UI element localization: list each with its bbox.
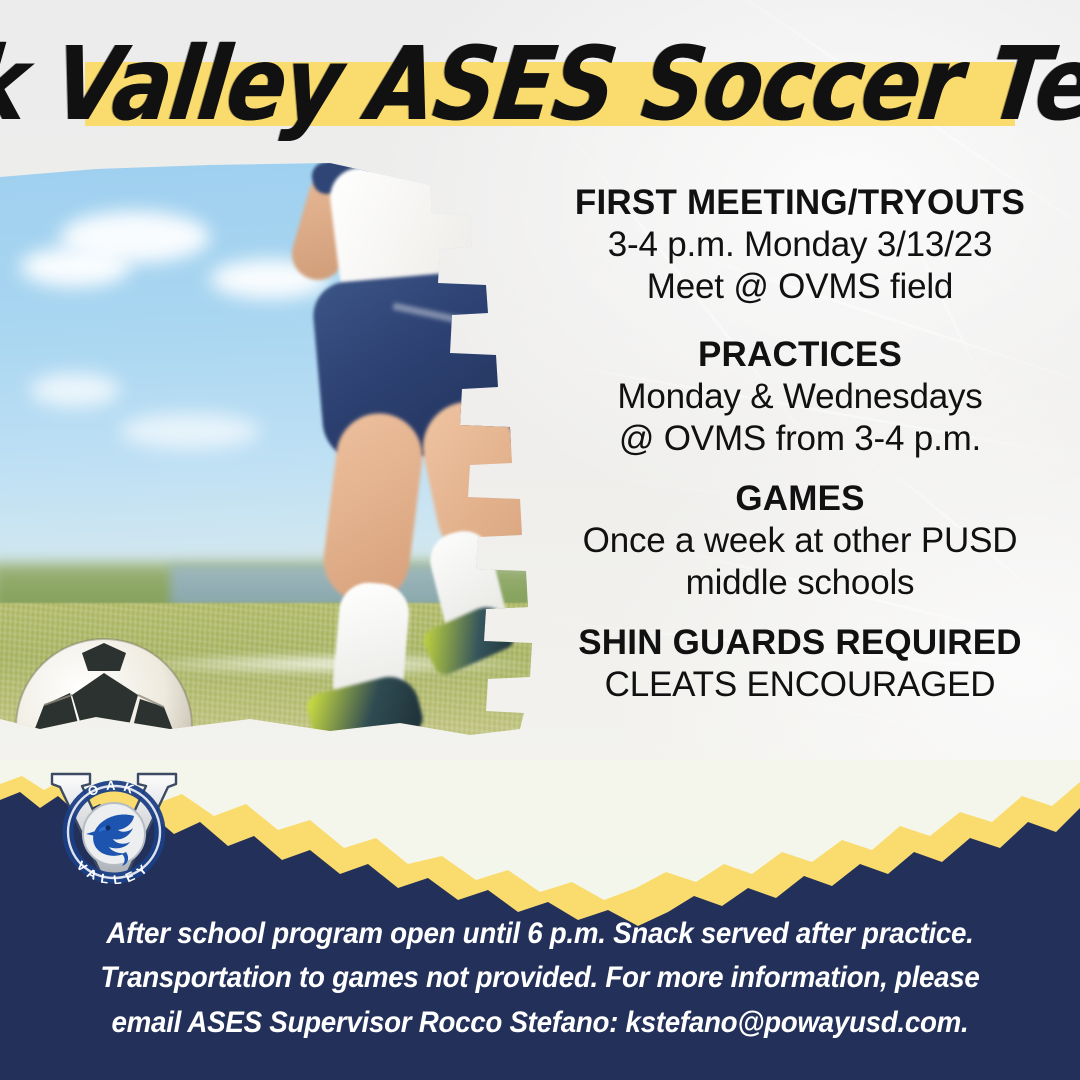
cloud bbox=[30, 373, 120, 407]
practices-line-2: @ OVMS from 3-4 p.m. bbox=[520, 418, 1080, 461]
spacer bbox=[520, 309, 1080, 335]
section-heading-practices: PRACTICES bbox=[520, 335, 1080, 376]
section-heading-shin-guards: SHIN GUARDS REQUIRED bbox=[520, 623, 1080, 664]
tryouts-line-1: 3-4 p.m. Monday 3/13/23 bbox=[520, 224, 1080, 267]
spacer bbox=[520, 461, 1080, 479]
section-heading-tryouts: FIRST MEETING/TRYOUTS bbox=[520, 183, 1080, 224]
cloud bbox=[20, 247, 130, 287]
title-block: Oak Valley ASES Soccer Team bbox=[0, 0, 1080, 170]
page-title: Oak Valley ASES Soccer Team bbox=[0, 0, 1080, 185]
footer-text: After school program open until 6 p.m. S… bbox=[59, 912, 1022, 1046]
logo-top-arc-text: OAK bbox=[86, 778, 143, 799]
soccer-team-flyer: Oak Valley ASES Soccer Team bbox=[0, 0, 1080, 1080]
spacer bbox=[520, 605, 1080, 623]
oak-valley-crest-icon: OAK VALLEY bbox=[38, 768, 190, 884]
oak-valley-logo: OAK VALLEY bbox=[38, 768, 190, 884]
footer-line-3: email ASES Supervisor Rocco Stefano: kst… bbox=[59, 1001, 1022, 1046]
cleats-line: CLEATS ENCOURAGED bbox=[520, 664, 1080, 707]
cloud bbox=[120, 413, 260, 449]
info-block: FIRST MEETING/TRYOUTS 3-4 p.m. Monday 3/… bbox=[520, 183, 1080, 706]
background-water bbox=[170, 565, 470, 607]
footer-line-1: After school program open until 6 p.m. S… bbox=[59, 912, 1022, 957]
games-line-1: Once a week at other PUSD bbox=[520, 520, 1080, 563]
footer-line-2: Transportation to games not provided. Fo… bbox=[59, 956, 1022, 1001]
games-line-2: middle schools bbox=[520, 562, 1080, 605]
tryouts-line-2: Meet @ OVMS field bbox=[520, 266, 1080, 309]
practices-line-1: Monday & Wednesdays bbox=[520, 376, 1080, 419]
section-heading-games: GAMES bbox=[520, 479, 1080, 520]
